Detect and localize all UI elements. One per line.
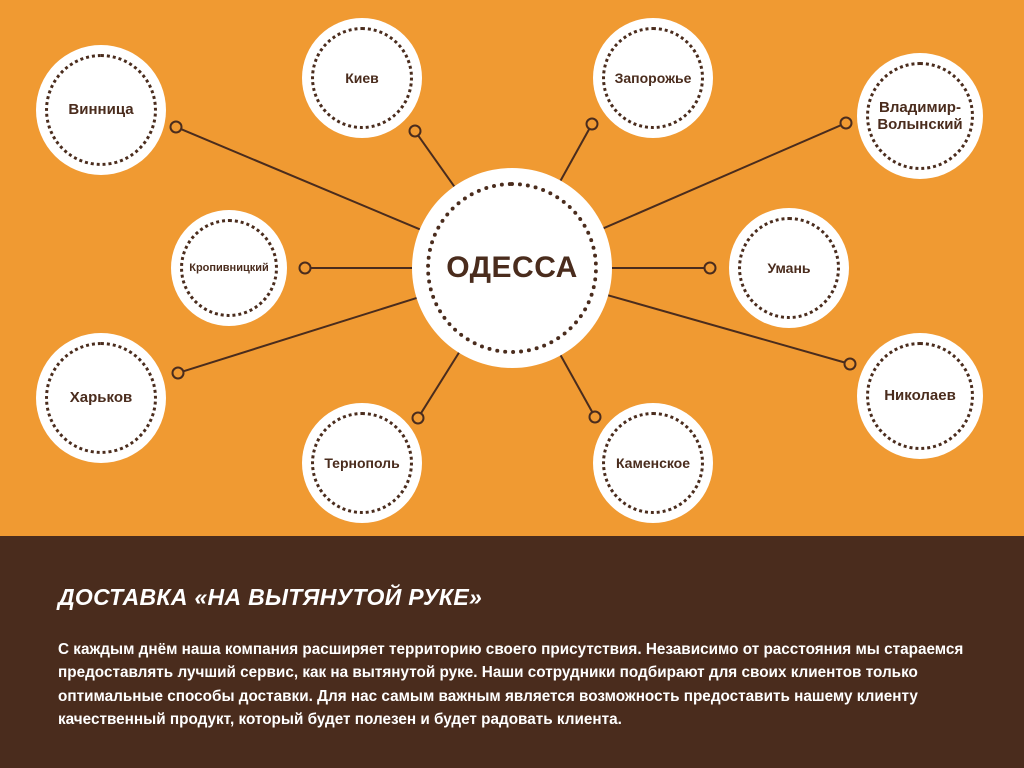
- city-node-label: Владимир-Волынский: [867, 99, 972, 134]
- footer-title: ДОСТАВКА «НА ВЫТЯНУТОЙ РУКЕ»: [58, 584, 966, 611]
- edge-endpoint-zaporozhye: [587, 119, 598, 130]
- edge-endpoint-kharkov: [173, 368, 184, 379]
- edge-endpoint-ternopol: [413, 413, 424, 424]
- edge-zaporozhye: [560, 129, 589, 181]
- edge-endpoint-kamenskoe: [590, 412, 601, 423]
- city-node-label: Тернополь: [314, 455, 409, 471]
- city-node-label: Киев: [335, 70, 389, 86]
- edge-endpoint-volynsky: [841, 118, 852, 129]
- city-node-zaporozhye[interactable]: Запорожье: [593, 18, 713, 138]
- hub-node-odessa[interactable]: ОДЕССА: [412, 168, 612, 368]
- city-node-volynsky[interactable]: Владимир-Волынский: [857, 53, 983, 179]
- edge-endpoint-uman: [705, 263, 716, 274]
- edge-endpoint-vinnitsa: [171, 122, 182, 133]
- city-node-ternopol[interactable]: Тернополь: [302, 403, 422, 523]
- city-node-label: Харьков: [60, 389, 142, 406]
- edge-endpoint-nikolaev: [845, 359, 856, 370]
- city-node-label: Каменское: [606, 455, 700, 471]
- edge-kamenskoe: [560, 354, 592, 411]
- edge-endpoint-kropyvnytskyi: [300, 263, 311, 274]
- city-node-nikolaev[interactable]: Николаев: [857, 333, 983, 459]
- city-node-label: Винница: [58, 101, 143, 118]
- city-node-kiev[interactable]: Киев: [302, 18, 422, 138]
- edge-kiev: [418, 136, 454, 187]
- city-node-label: Николаев: [874, 387, 966, 404]
- city-node-label: Запорожье: [605, 70, 702, 86]
- infographic-page: ОДЕССА ВинницаКиевЗапорожьеВладимир-Волы…: [0, 0, 1024, 768]
- footer-body-text: С каждым днём наша компания расширяет те…: [58, 638, 966, 731]
- city-node-kropyvnytskyi[interactable]: Кропивницкий: [171, 210, 287, 326]
- city-node-label: Умань: [757, 260, 820, 276]
- city-node-label: Кропивницкий: [179, 262, 279, 275]
- city-node-kharkov[interactable]: Харьков: [36, 333, 166, 463]
- city-node-vinnitsa[interactable]: Винница: [36, 45, 166, 175]
- hub-node-label: ОДЕССА: [436, 251, 588, 286]
- footer-panel: ДОСТАВКА «НА ВЫТЯНУТОЙ РУКЕ» С каждым дн…: [0, 536, 1024, 768]
- hub-and-spoke-diagram: ОДЕССА ВинницаКиевЗапорожьеВладимир-Волы…: [0, 0, 1024, 536]
- edge-ternopol: [421, 352, 459, 413]
- edge-endpoint-kiev: [410, 126, 421, 137]
- city-node-uman[interactable]: Умань: [729, 208, 849, 328]
- city-node-kamenskoe[interactable]: Каменское: [593, 403, 713, 523]
